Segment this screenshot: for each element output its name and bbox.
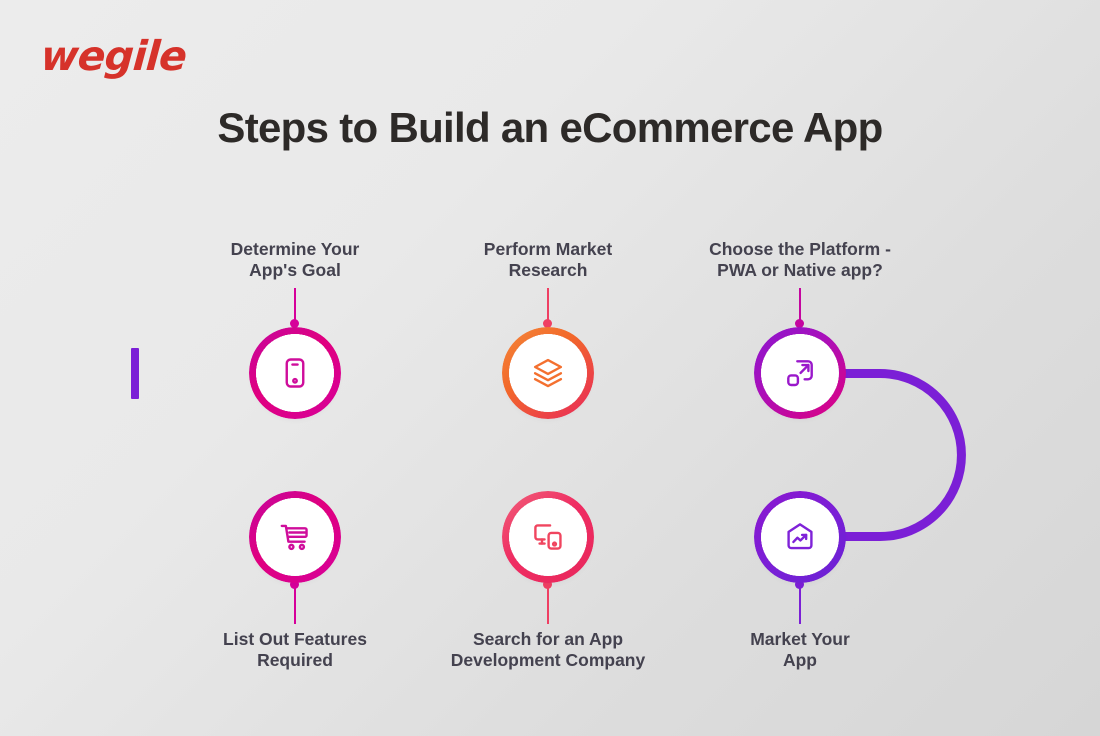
step-1-ring: [249, 327, 341, 419]
step-5-caption: Search for an App Development Company: [403, 629, 693, 672]
step-4-caption: List Out Features Required: [150, 629, 440, 672]
step-2-node[interactable]: [509, 334, 587, 412]
flow-uturn-right: [836, 374, 961, 537]
step-5-ring: [502, 491, 594, 583]
step-1-node[interactable]: [256, 334, 334, 412]
step-4-node[interactable]: [256, 498, 334, 576]
step-3-node[interactable]: [761, 334, 839, 412]
step-6-node[interactable]: [761, 498, 839, 576]
step-2-ring: [502, 327, 594, 419]
step-5-node[interactable]: [509, 498, 587, 576]
step-5-stem: [547, 586, 549, 624]
step-3-caption: Choose the Platform - PWA or Native app?: [655, 239, 945, 282]
step-2-caption: Perform Market Research: [403, 239, 693, 282]
step-6-caption: Market Your App: [655, 629, 945, 672]
step-3-ring: [754, 327, 846, 419]
step-6-ring: [754, 491, 846, 583]
step-4-ring: [249, 491, 341, 583]
step-6-stem: [799, 586, 801, 624]
process-flow-diagram: Determine Your App's Goal Perform Market…: [0, 0, 1100, 736]
step-4-stem: [294, 586, 296, 624]
step-1-caption: Determine Your App's Goal: [150, 239, 440, 282]
